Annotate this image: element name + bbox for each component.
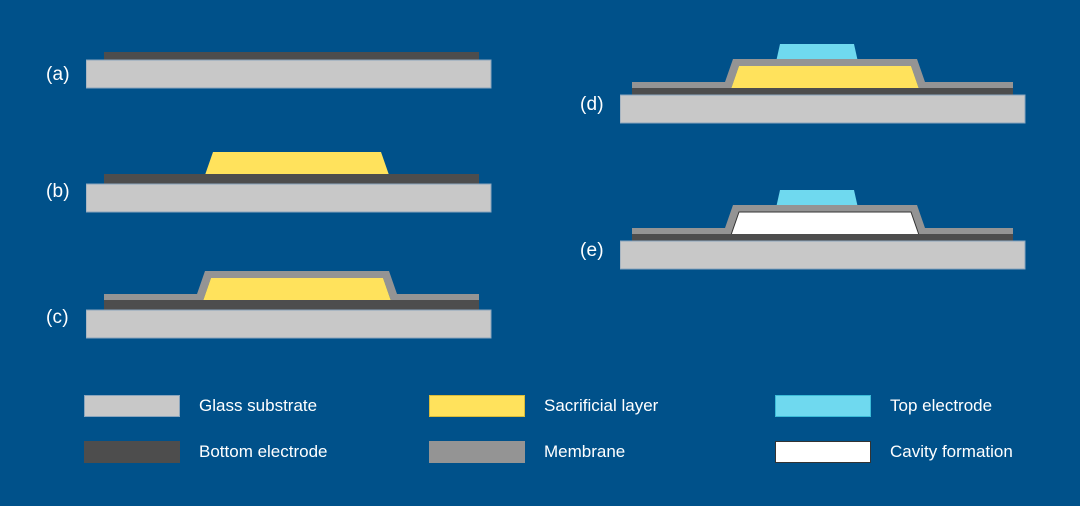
panel-e-stage bbox=[620, 186, 1040, 278]
legend-column-3: Top electrode Cavity formation bbox=[775, 390, 1080, 480]
legend-column-1: Glass substrate Bottom electrode bbox=[84, 390, 414, 480]
legend-swatch-membrane bbox=[429, 441, 525, 463]
legend-swatch-bottom-electrode bbox=[84, 441, 180, 463]
legend-swatch-cavity-formation bbox=[775, 441, 871, 463]
glass-substrate-layer bbox=[620, 95, 1025, 123]
panel-c-stage bbox=[86, 262, 506, 344]
panel-label-d: (d) bbox=[580, 94, 604, 116]
legend: Glass substrate Bottom electrode Sacrifi… bbox=[84, 390, 1044, 480]
legend-item-glass-substrate: Glass substrate bbox=[84, 394, 317, 418]
legend-item-top-electrode: Top electrode bbox=[775, 394, 992, 418]
panel-label-c: (c) bbox=[46, 307, 69, 329]
legend-item-cavity-formation: Cavity formation bbox=[775, 440, 1013, 464]
sacrificial-layer-shape bbox=[205, 152, 389, 175]
panel-b-stage bbox=[86, 148, 506, 230]
panel-e-cross-section bbox=[620, 186, 1040, 278]
panel-label-e: (e) bbox=[580, 240, 604, 262]
process-flow-diagram: (a) (b) (c) bbox=[0, 0, 1080, 506]
legend-label-top-electrode: Top electrode bbox=[890, 396, 992, 416]
panel-a-cross-section bbox=[86, 44, 506, 96]
panel-a-stage bbox=[86, 44, 506, 96]
panel-d-stage bbox=[620, 40, 1040, 132]
glass-substrate-layer bbox=[86, 60, 491, 88]
legend-label-sacrificial-layer: Sacrificial layer bbox=[544, 396, 658, 416]
panel-label-b: (b) bbox=[46, 181, 70, 203]
legend-label-bottom-electrode: Bottom electrode bbox=[199, 442, 328, 462]
sacrificial-layer-shape bbox=[203, 278, 391, 301]
legend-item-membrane: Membrane bbox=[429, 440, 625, 464]
panel-b-cross-section bbox=[86, 148, 506, 230]
legend-swatch-sacrificial-layer bbox=[429, 395, 525, 417]
panel-label-a: (a) bbox=[46, 64, 70, 86]
panel-c-cross-section bbox=[86, 262, 506, 344]
legend-label-cavity-formation: Cavity formation bbox=[890, 442, 1013, 462]
cavity-shape bbox=[731, 212, 919, 235]
legend-item-bottom-electrode: Bottom electrode bbox=[84, 440, 328, 464]
legend-swatch-glass-substrate bbox=[84, 395, 180, 417]
legend-item-sacrificial-layer: Sacrificial layer bbox=[429, 394, 658, 418]
glass-substrate-layer bbox=[86, 310, 491, 338]
sacrificial-layer-shape bbox=[731, 66, 919, 89]
glass-substrate-layer bbox=[86, 184, 491, 212]
legend-swatch-top-electrode bbox=[775, 395, 871, 417]
legend-column-2: Sacrificial layer Membrane bbox=[429, 390, 759, 480]
panel-d-cross-section bbox=[620, 40, 1040, 132]
legend-label-glass-substrate: Glass substrate bbox=[199, 396, 317, 416]
legend-label-membrane: Membrane bbox=[544, 442, 625, 462]
glass-substrate-layer bbox=[620, 241, 1025, 269]
